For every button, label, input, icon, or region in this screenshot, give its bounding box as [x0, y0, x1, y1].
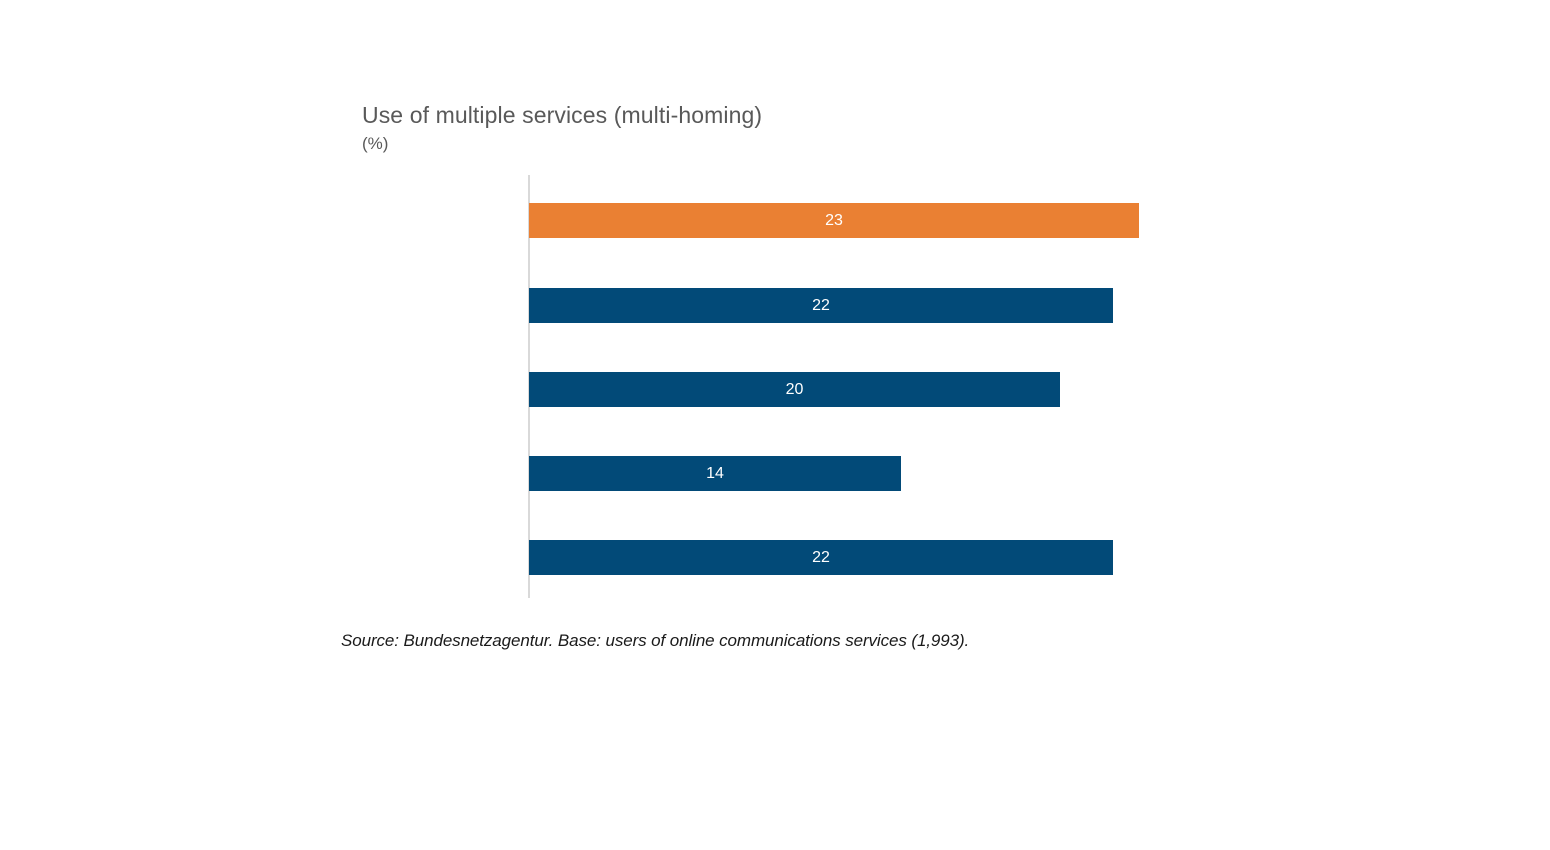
- bar-two-services[interactable]: 22: [529, 288, 1113, 323]
- bar-value-label: 22: [529, 540, 1113, 575]
- plot-area: One service 23 Two services 22 Three ser…: [0, 0, 1550, 850]
- bar-value-label: 14: [529, 456, 901, 491]
- bar-value-label: 20: [529, 372, 1060, 407]
- bar-five-or-more-services[interactable]: 22: [529, 540, 1113, 575]
- bar-value-label: 23: [529, 203, 1139, 238]
- bar-four-services[interactable]: 14: [529, 456, 901, 491]
- bar-one-service[interactable]: 23: [529, 203, 1139, 238]
- bar-three-services[interactable]: 20: [529, 372, 1060, 407]
- chart-figure: Use of multiple services (multi-homing) …: [0, 0, 1550, 850]
- bar-value-label: 22: [529, 288, 1113, 323]
- source-note: Source: Bundesnetzagentur. Base: users o…: [341, 631, 969, 651]
